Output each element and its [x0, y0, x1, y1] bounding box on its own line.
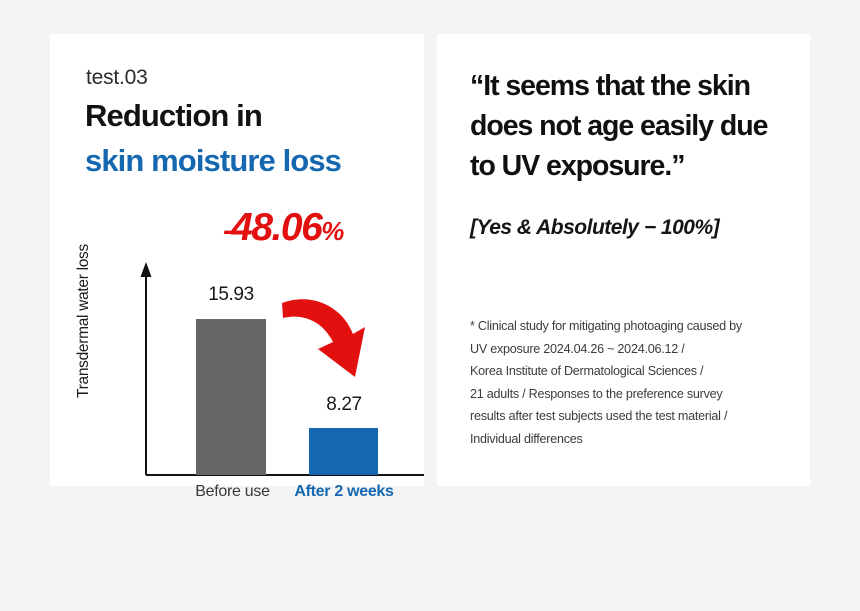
curved-down-right-arrow-icon [282, 299, 365, 377]
bar-after-2-weeks [309, 428, 378, 475]
footnote-line: results after test subjects used the tes… [470, 405, 800, 428]
bar-value-after-2-weeks: 8.27 [294, 394, 394, 416]
footnote-line: Korea Institute of Dermatological Scienc… [470, 360, 800, 383]
chart-panel: test.03 Reduction in skin moisture loss … [50, 34, 424, 486]
footnote-line: * Clinical study for mitigating photoagi… [470, 315, 800, 338]
category-label-before-use: Before use [176, 483, 289, 501]
quote-attribution: [Yes & Absolutely − 100%] [470, 216, 719, 240]
study-footnote: * Clinical study for mitigating photoagi… [470, 315, 800, 450]
slide-canvas: test.03 Reduction in skin moisture loss … [0, 0, 860, 611]
bar-value-before-use: 15.93 [181, 284, 281, 306]
footnote-line: Individual differences [470, 428, 800, 451]
footnote-line: UV exposure 2024.04.26 ~ 2024.06.12 / [470, 338, 800, 361]
footnote-line: 21 adults / Responses to the preference … [470, 383, 800, 406]
bar-chart-svg [50, 34, 424, 486]
quote-text: “It seems that the skin does not age eas… [470, 66, 795, 186]
y-axis-label: Transdermal water loss [75, 226, 93, 416]
category-label-after-2-weeks: After 2 weeks [281, 483, 407, 501]
y-axis-arrow-icon [141, 262, 152, 277]
bar-chart: Transdermal water loss 15.93 8.27 Before… [50, 34, 424, 486]
bar-before-use [196, 319, 266, 475]
quote-panel: “It seems that the skin does not age eas… [437, 34, 810, 486]
